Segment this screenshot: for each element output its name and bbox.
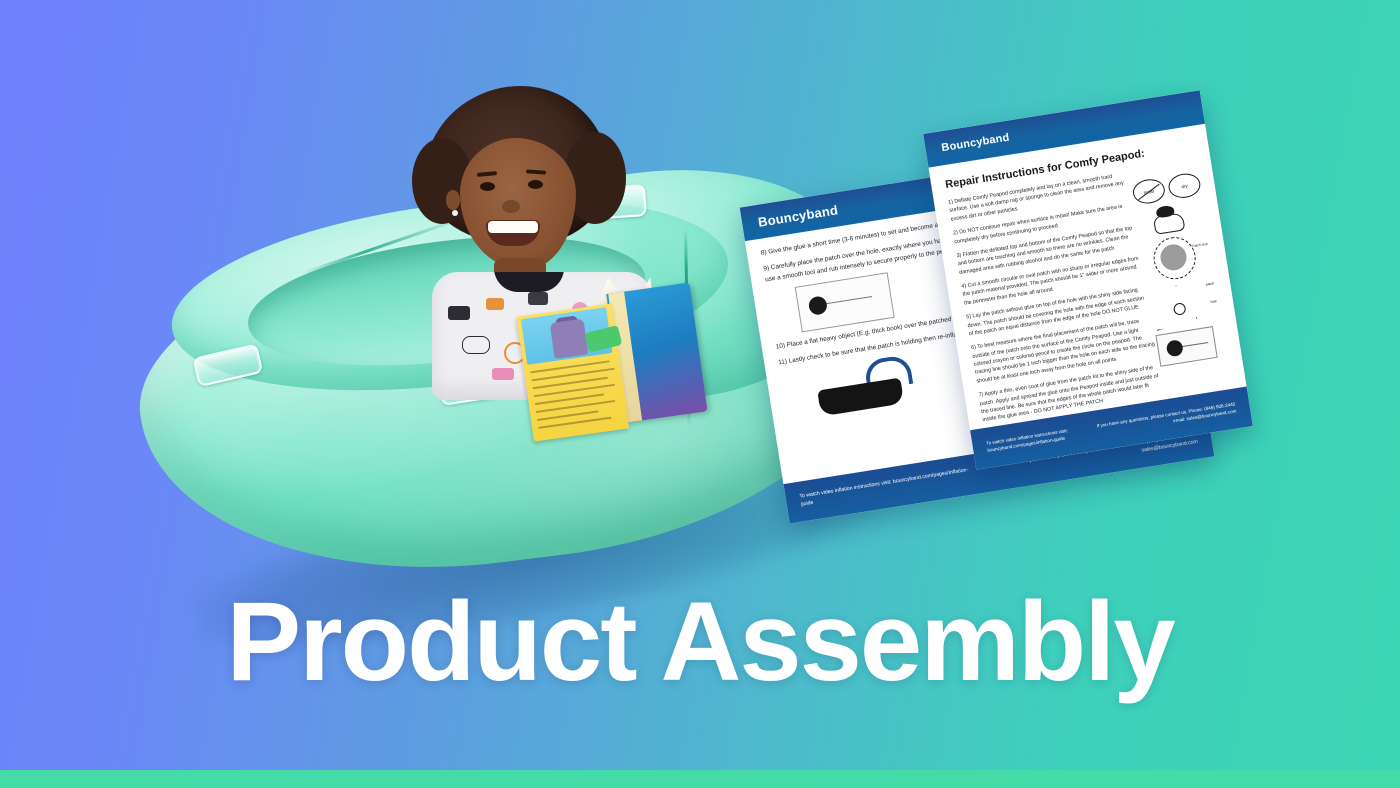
dry-label: dry — [1181, 183, 1188, 189]
no-moist-icon: moist — [1131, 177, 1166, 206]
child-eye-right — [528, 180, 543, 189]
glue-dot — [1166, 339, 1184, 357]
bottom-accent-bar — [0, 770, 1400, 788]
product-assembly-banner: Bouncyband 8) Give the glue a short time… — [0, 0, 1400, 788]
diagram-hole — [808, 295, 829, 316]
glue-line — [1182, 342, 1208, 347]
shirt-pattern — [486, 298, 504, 310]
shirt-pattern — [448, 306, 470, 320]
pump-body — [817, 378, 904, 417]
child-eye-left — [480, 182, 495, 191]
pump-diagram — [810, 355, 913, 421]
bouncyband-logo: Bouncyband — [941, 132, 1011, 155]
footer-contact: If you have any questions, please contac… — [1096, 402, 1237, 437]
child-nose — [502, 200, 520, 213]
patch-placement-diagram: patch hole — [1148, 277, 1220, 331]
page-title: Product Assembly — [0, 586, 1400, 698]
book-character-body — [550, 319, 589, 359]
hand-outline — [1153, 212, 1185, 234]
footer-video-link: To watch video inflation instructions vi… — [986, 424, 1098, 455]
dry-icon: dry — [1167, 171, 1202, 200]
book-page-left — [517, 303, 630, 441]
patch-size-diagram: Patch size — [1140, 230, 1212, 284]
child-teeth — [488, 221, 538, 233]
hole-label: hole — [1210, 299, 1217, 304]
hand-cleaning-icon — [1150, 203, 1188, 234]
shirt-collar — [494, 272, 564, 292]
glue-application-diagram — [1155, 326, 1217, 367]
diagram-row-warnings: moist dry — [1131, 170, 1208, 205]
patch-label: patch — [1206, 281, 1215, 286]
shirt-pattern — [492, 368, 514, 380]
diagram-line — [827, 296, 873, 304]
storybook — [515, 282, 709, 445]
prohibition-slash — [1138, 184, 1159, 201]
patch-size-label: Patch size — [1192, 242, 1208, 248]
child-ear — [446, 190, 460, 210]
child-earring — [452, 210, 458, 216]
repair-instructions-page-1: Bouncyband Repair Instructions for Comfy… — [923, 90, 1253, 470]
shirt-pattern — [462, 336, 490, 354]
document-body: Repair Instructions for Comfy Peapod: 1)… — [928, 124, 1246, 427]
patch-rub-diagram — [795, 272, 895, 332]
bouncyband-logo: Bouncyband — [757, 202, 839, 229]
